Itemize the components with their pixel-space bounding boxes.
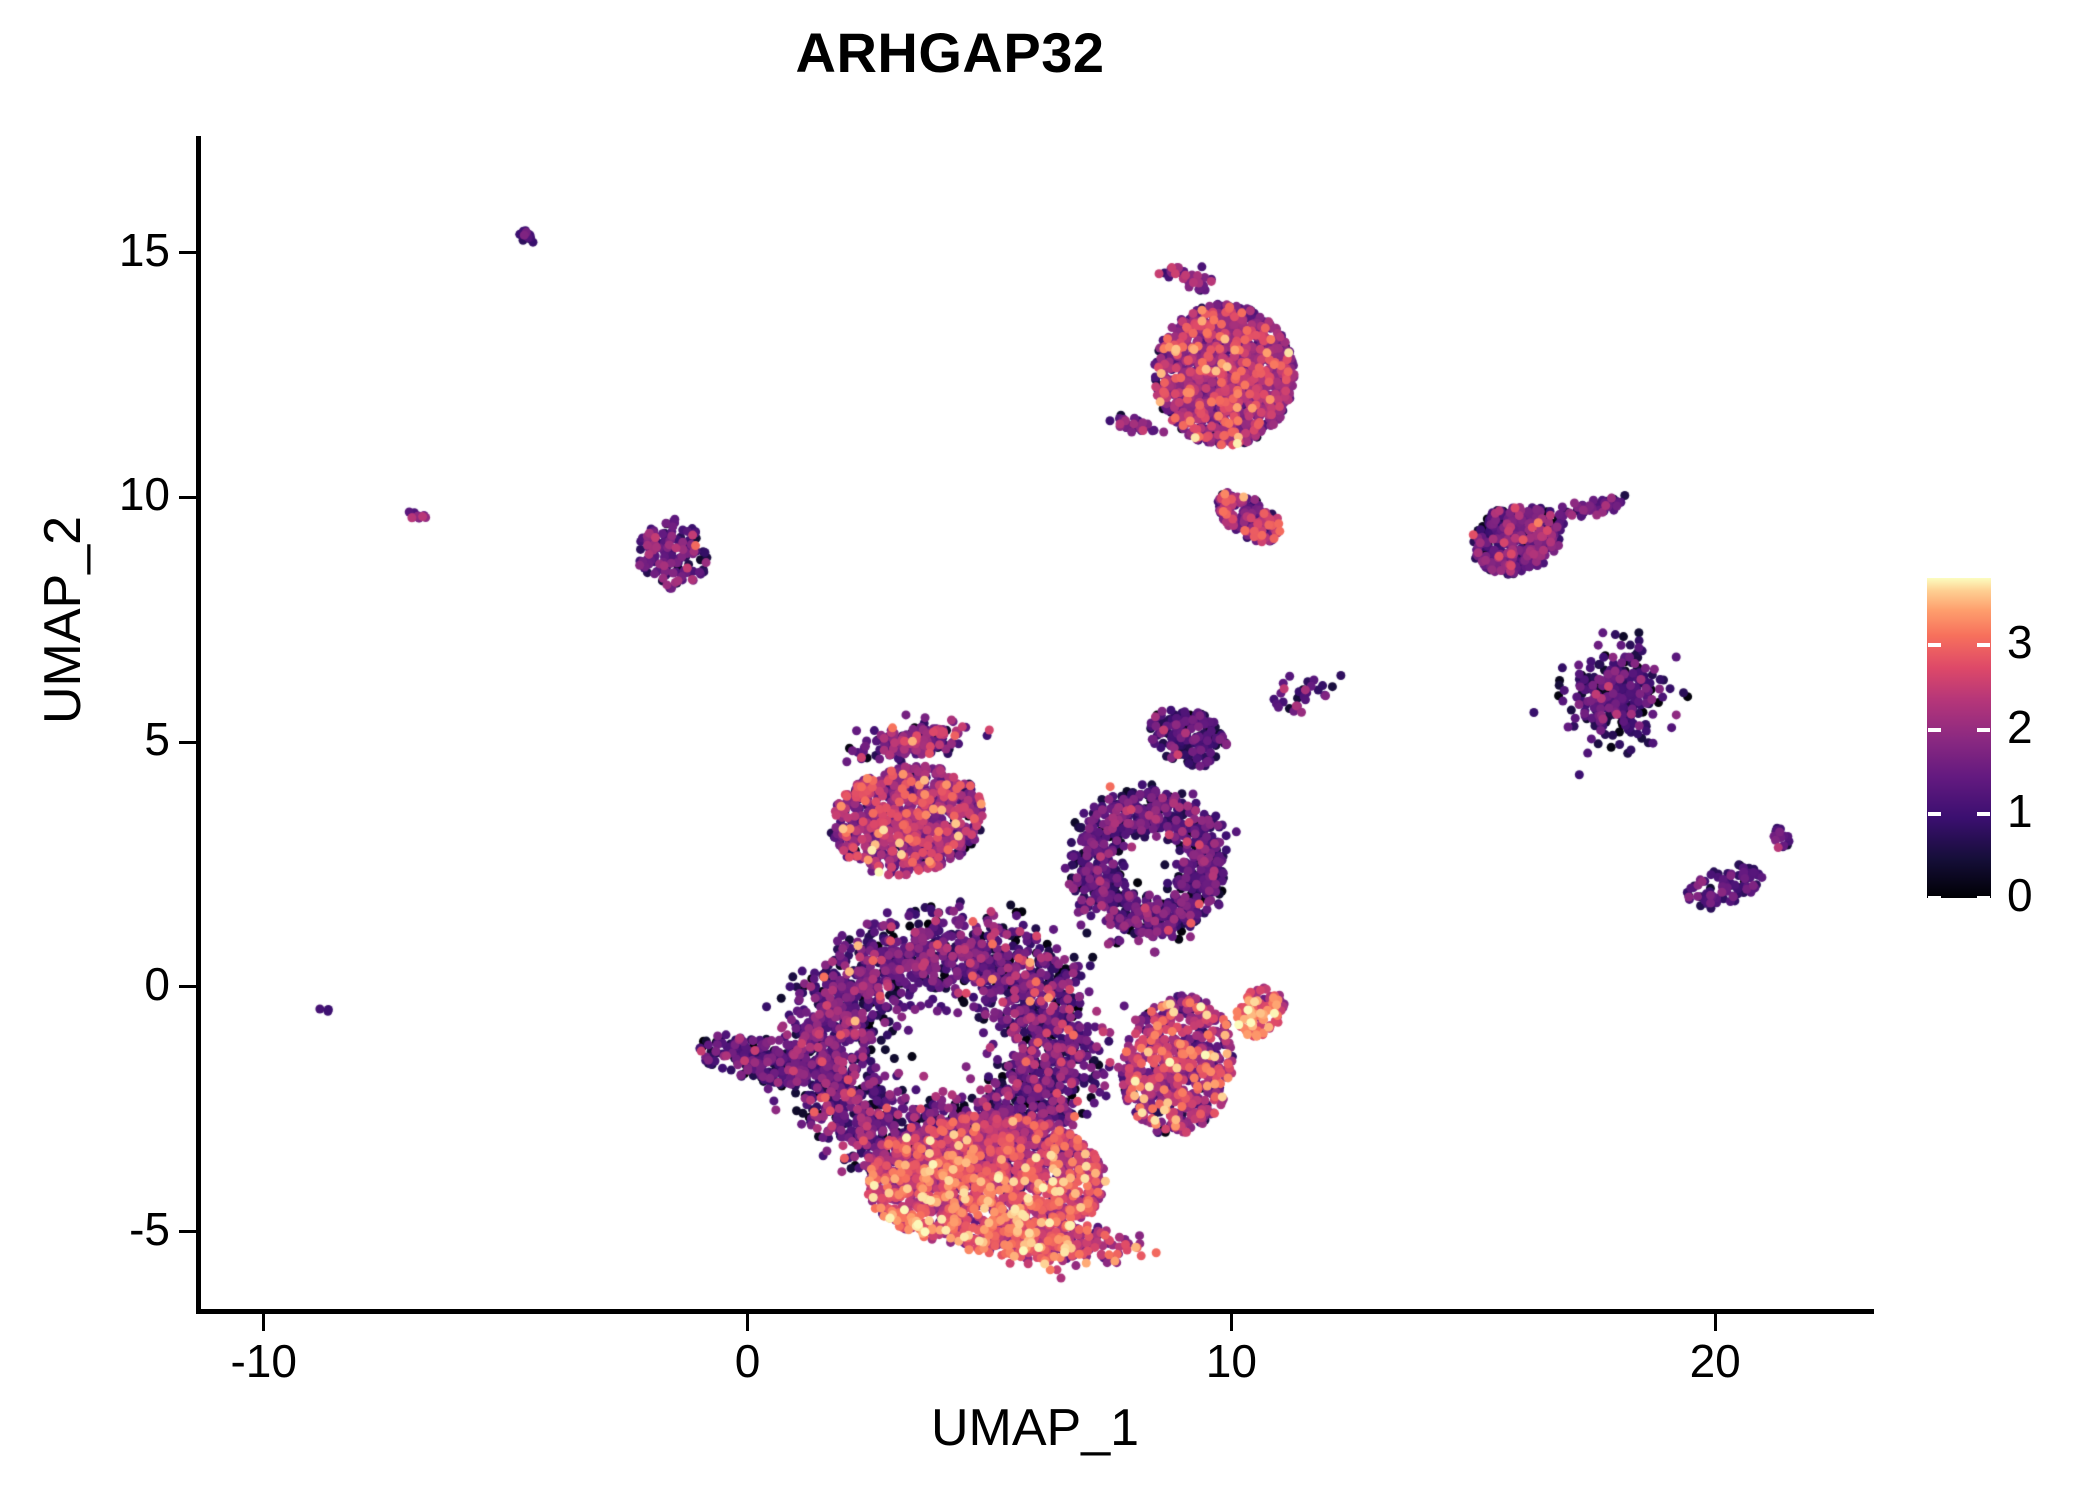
- colorbar-gradient: [1927, 578, 1991, 898]
- colorbar-tick-mark: [1977, 812, 1990, 816]
- scatter-point-cloud: [196, 140, 1870, 1310]
- colorbar-tick-label: 1: [2007, 788, 2097, 834]
- x-tick-label: 10: [1131, 1338, 1331, 1384]
- y-tick-mark: [179, 251, 196, 254]
- y-tick-label: -5: [0, 1206, 170, 1252]
- y-tick-mark: [179, 496, 196, 499]
- colorbar-tick-label: 0: [2007, 872, 2097, 918]
- y-axis-line: [196, 136, 201, 1314]
- x-tick-mark: [1714, 1314, 1717, 1331]
- colorbar-tick-mark: [1928, 728, 1941, 732]
- colorbar-tick-mark: [1928, 896, 1941, 900]
- y-tick-label: 15: [0, 227, 170, 273]
- y-axis-label: UMAP_2: [33, 516, 93, 724]
- colorbar-tick-mark: [1928, 812, 1941, 816]
- umap-feature-plot: ARHGAP32 -1001020 -5051015 UMAP_1 UMAP_2…: [0, 0, 2100, 1500]
- y-tick-mark: [179, 1230, 196, 1233]
- page-title: ARHGAP32: [0, 22, 1900, 84]
- colorbar-tick-mark: [1977, 643, 1990, 647]
- colorbar-tick-label: 2: [2007, 704, 2097, 750]
- colorbar-tick-mark: [1928, 643, 1941, 647]
- x-tick-label: 0: [648, 1338, 848, 1384]
- x-tick-mark: [262, 1314, 265, 1331]
- colorbar-legend: [1927, 578, 1991, 898]
- y-tick-mark: [179, 741, 196, 744]
- colorbar-tick-mark: [1977, 728, 1990, 732]
- x-tick-mark: [746, 1314, 749, 1331]
- x-axis-line: [196, 1309, 1874, 1314]
- x-tick-mark: [1230, 1314, 1233, 1331]
- colorbar-tick-label: 3: [2007, 619, 2097, 665]
- x-axis-label: UMAP_1: [196, 1398, 1874, 1458]
- x-tick-label: -10: [164, 1338, 364, 1384]
- x-tick-label: 20: [1615, 1338, 1815, 1384]
- y-axis-label-wrap: UMAP_2: [28, 270, 98, 970]
- colorbar-tick-mark: [1977, 896, 1990, 900]
- y-tick-mark: [179, 985, 196, 988]
